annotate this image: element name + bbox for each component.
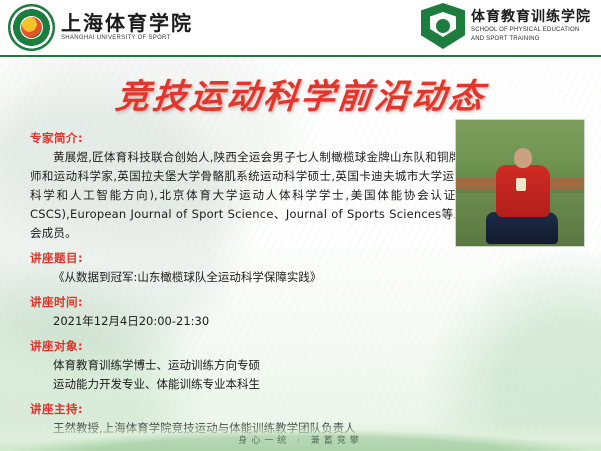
school-name-cn: 体育教育训练学院: [471, 9, 591, 26]
time-text: 2021年12月4日20:00-21:30: [30, 312, 579, 331]
photo-person-badge: [516, 178, 526, 191]
school-crest-icon: [421, 3, 465, 49]
topic-text: 《从数据到冠军:山东橄榄球队全运动科学保障实践》: [30, 268, 579, 287]
page-title: 竞技运动科学前沿动态: [113, 69, 488, 118]
footer-slogan: 身心一统 · 兼蓄竞攀: [0, 433, 601, 446]
title-area: 竞技运动科学前沿动态: [0, 69, 601, 119]
university-logo: 上海体育学院 SHANGHAI UNIVERSITY OF SPORT: [8, 4, 193, 51]
photo-person-body: [496, 165, 550, 217]
photo-person-head: [514, 148, 532, 168]
poster-header: 上海体育学院 SHANGHAI UNIVERSITY OF SPORT 体育教育…: [0, 0, 601, 57]
audience-label: 讲座对象:: [30, 338, 579, 354]
audience-line-1: 体育教育训练学博士、运动训练方向专硕: [30, 356, 579, 375]
time-label: 讲座时间:: [30, 294, 579, 310]
audience-line-2: 运动能力开发专业、体能训练专业本科生: [30, 375, 579, 394]
school-logo: 体育教育训练学院 SCHOOL OF PHYSICAL EDUCATION AN…: [421, 3, 591, 49]
poster-footer: 身心一统 · 兼蓄竞攀: [0, 421, 601, 451]
poster-canvas: 上海体育学院 SHANGHAI UNIVERSITY OF SPORT 体育教育…: [0, 0, 601, 451]
poster-body: 专家简介: 黄展煜,匠体育科技联合创始人,陕西全运会男子七人制橄榄球金牌山东队和…: [0, 119, 601, 438]
university-name-cn: 上海体育学院: [61, 12, 193, 34]
topic-label: 讲座题目:: [30, 250, 579, 266]
university-name-en: SHANGHAI UNIVERSITY OF SPORT: [61, 34, 193, 43]
host-label: 讲座主持:: [30, 401, 579, 417]
speaker-photo: [455, 119, 585, 247]
university-seal-icon: [8, 4, 55, 51]
school-name-en-line1: SCHOOL OF PHYSICAL EDUCATION: [471, 26, 591, 35]
school-name-en-line2: AND SPORT TRAINING: [471, 35, 591, 44]
